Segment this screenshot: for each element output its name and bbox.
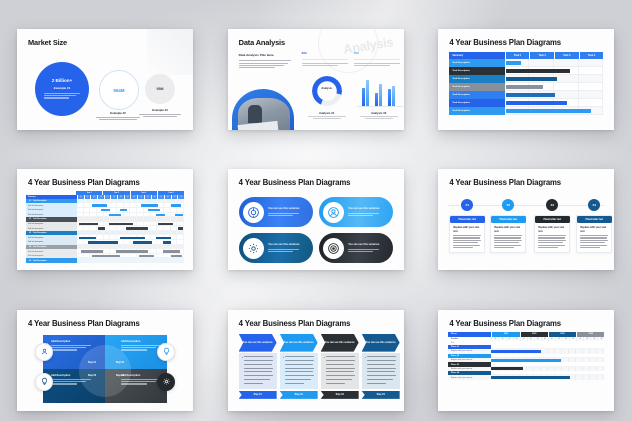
table-row[interactable]: Task Description — [449, 107, 603, 115]
group-number: 01 — [28, 200, 32, 202]
step-number-4: 04 — [588, 199, 600, 211]
row-label: Task Description — [449, 107, 504, 115]
column-bar-4: Placeholder text — [577, 216, 612, 224]
slide-cell-4: 4 Year Business Plan Diagrams Year 1 Yea… — [0, 140, 211, 280]
quadrant-heading-2: Add Description — [121, 340, 161, 343]
page-title: 4 Year Business Plan Diagrams — [449, 319, 561, 328]
group-number: 02 — [28, 218, 32, 220]
phase-track — [491, 367, 604, 371]
table-row[interactable]: Task Description — [449, 99, 603, 107]
slide-four-columns[interactable]: 4 Year Business Plan Diagrams 01 Placeho… — [438, 169, 614, 270]
analysis-tag-2: 75% — [354, 52, 400, 55]
metric-caption-3: Example #3 — [139, 108, 181, 112]
column-card-1: Placeholder text Replace with your own t… — [449, 215, 485, 253]
column-bar-1: Placeholder text — [450, 216, 485, 224]
center-circle — [79, 345, 131, 397]
column-heading-4: Replace with your own text — [577, 223, 611, 235]
target-icon — [323, 238, 344, 259]
quadrant-cell-2: Step 02 — [107, 362, 133, 364]
group-label: Task Description — [33, 246, 46, 248]
page-title: 4 Year Business Plan Diagrams — [449, 178, 561, 187]
slide-data-analysis[interactable]: Analysis Data Analysis Data Analysis Tit… — [228, 29, 404, 130]
column-card-4: Placeholder text Replace with your own t… — [576, 215, 612, 253]
row-track — [505, 75, 604, 83]
pill-heading-2: You can use this sentence — [348, 207, 379, 210]
intro-block: Data Analysis Title Here — [239, 53, 291, 70]
idea-icon[interactable] — [157, 343, 175, 361]
slide-cell-9: 4 Year Business Plan Diagrams Phase 2021… — [421, 281, 632, 421]
table-row[interactable]: Task Description — [449, 91, 603, 99]
column-heading-1: Replace with your own text — [450, 223, 484, 235]
row-label: Task Description — [449, 67, 504, 75]
quadrant-cell-1: Step 01 — [79, 362, 105, 364]
slide-cell-2: Analysis Data Analysis Data Analysis Tit… — [211, 0, 422, 140]
phase-track — [491, 349, 604, 353]
page-title: 4 Year Business Plan Diagrams — [28, 319, 140, 328]
row-track — [505, 59, 604, 67]
chevron-footer-3: Step 03 — [321, 391, 359, 399]
metric-caption-block-3: Example #3 — [139, 108, 181, 117]
page-title: 4 Year Business Plan Diagrams — [28, 178, 140, 187]
quadrant-cell-4: Step 04 — [107, 375, 133, 377]
user-icon[interactable] — [35, 343, 53, 361]
photo-thumbnail — [232, 89, 294, 130]
page-title: Market Size — [28, 38, 67, 47]
chevron-column-3[interactable]: You can use this sentence Step 03 — [321, 334, 359, 399]
group-label: Task Description — [33, 200, 46, 202]
metric-caption-2: Example #2 — [96, 111, 140, 115]
column-bar-3: Placeholder text — [535, 216, 570, 224]
column-card-3: Placeholder text Replace with your own t… — [534, 215, 570, 253]
row-track — [505, 83, 604, 91]
phase-track — [491, 358, 604, 362]
step-number-2: 02 — [502, 199, 514, 211]
slide-quadrant[interactable]: 4 Year Business Plan Diagrams Add Descri… — [17, 310, 193, 411]
pill-text-2: You can use this sentence — [344, 207, 384, 217]
row-track — [505, 91, 604, 99]
analysis-column-2: 75% — [354, 52, 400, 67]
gear-icon — [243, 238, 264, 259]
metric-body-1 — [44, 93, 80, 100]
column-bar-2: Placeholder text — [491, 216, 526, 224]
slide-cell-7: 4 Year Business Plan Diagrams Add Descri… — [0, 281, 211, 421]
donut-center-label: Analysis — [312, 87, 342, 90]
row-label: Task Description — [449, 59, 504, 67]
column-2[interactable]: 02 Placeholder text Replace with your ow… — [490, 199, 526, 253]
column-header-task1: Task 1 — [505, 52, 530, 59]
bar-chart — [360, 76, 400, 106]
group-row-footer[interactable]: 05Task Description — [26, 258, 184, 263]
quadrant-matrix: Add Description Add Description Add Desc… — [43, 335, 167, 403]
metric-circle-2[interactable]: 654M — [99, 70, 139, 110]
gantt-phase-table: Phase 2021 2022 2023 2024 Duration Q1 Q2… — [448, 332, 604, 380]
chevron-body-3 — [321, 353, 359, 389]
chevron-heading-3: You can use this sentence — [321, 334, 359, 352]
phase-task: Replace with your own text — [448, 375, 491, 379]
page-title: Data Analysis — [239, 38, 285, 47]
column-header-summary: Summary — [449, 52, 504, 59]
quadrant-cell-3: Step 03 — [79, 375, 105, 377]
intro-heading: Data Analysis Title Here — [239, 53, 291, 57]
chevron-body-4 — [362, 353, 400, 389]
group-number: 04 — [28, 246, 32, 248]
column-heading-3: Replace with your own text — [535, 223, 569, 235]
metric-value-2: 654M — [114, 88, 125, 93]
row-label: Task Description — [449, 91, 504, 99]
pill-card-1[interactable]: You can use this sentence — [239, 197, 313, 227]
column-3[interactable]: 03 Placeholder text Replace with your ow… — [534, 199, 570, 253]
pill-card-2[interactable]: You can use this sentence — [319, 197, 393, 227]
pill-card-3[interactable]: You can use this sentence — [239, 233, 313, 263]
chevron-body-1 — [239, 353, 277, 389]
column-4[interactable]: 04 Placeholder text Replace with your ow… — [576, 199, 612, 253]
group-label: Task Description — [33, 260, 46, 262]
pill-heading-4: You can use this sentence — [348, 243, 379, 246]
chevron-footer-1: Step 01 — [239, 391, 277, 399]
chevron-body-2 — [280, 353, 318, 389]
donut-chart — [312, 76, 342, 106]
pill-text-3: You can use this sentence — [264, 243, 304, 253]
slide-gantt-phases[interactable]: 4 Year Business Plan Diagrams Phase 2021… — [438, 310, 614, 411]
gantt-header-row: Summary Task 1 Task 2 Task 3 Task 4 — [449, 52, 603, 59]
phase-track — [491, 375, 604, 379]
slide-cell-3: 4 Year Business Plan Diagrams Summary Ta… — [421, 0, 632, 140]
pill-text-1: You can use this sentence — [264, 207, 304, 217]
slide-gantt-simple[interactable]: 4 Year Business Plan Diagrams Summary Ta… — [438, 29, 614, 130]
chevron-heading-4: You can use this sentence — [362, 334, 400, 352]
table-row[interactable]: Task Description — [449, 75, 603, 83]
chevron-column-4[interactable]: You can use this sentence Step 04 — [362, 334, 400, 399]
metric-value-1: 2 Billion+ — [52, 78, 73, 83]
slide-pill-cards[interactable]: 4 Year Business Plan Diagrams You can us… — [228, 169, 404, 270]
row-track — [505, 99, 604, 107]
column-header-task2: Task 2 — [529, 52, 554, 59]
column-card-2: Placeholder text Replace with your own t… — [490, 215, 526, 253]
chevron-footer-4: Step 04 — [362, 391, 400, 399]
chevron-footer-2: Step 02 — [280, 391, 318, 399]
column-header-task3: Task 3 — [554, 52, 579, 59]
slide-cell-1: Market Size 2 Billion+ Example #1 654M E… — [0, 0, 211, 140]
user-icon — [323, 202, 344, 223]
step-number-1: 01 — [461, 199, 473, 211]
slide-cell-8: 4 Year Business Plan Diagrams You can us… — [211, 281, 422, 421]
step-number-3: 03 — [546, 199, 558, 211]
metric-circle-1[interactable]: 2 Billion+ Example #1 — [35, 62, 89, 116]
analysis-caption-2: Analysis #2 — [362, 111, 396, 115]
column-header-task4: Task 4 — [579, 52, 604, 59]
group-label: Task Description — [33, 232, 46, 234]
page-title: 4 Year Business Plan Diagrams — [239, 178, 351, 187]
metric-caption-1: Example #1 — [54, 86, 71, 90]
gantt-table: Summary Task 1 Task 2 Task 3 Task 4 Task… — [449, 52, 603, 122]
row-track — [505, 107, 604, 115]
quadrant-heading-1: Add Description — [51, 340, 91, 343]
metric-caption-block-2: Example #2 — [96, 111, 140, 120]
bulb-icon[interactable] — [35, 373, 53, 391]
chevron-heading-1: You can use this sentence — [239, 334, 277, 352]
page-title: 4 Year Business Plan Diagrams — [449, 38, 561, 47]
column-heading-2: Replace with your own text — [491, 223, 525, 235]
corner-accent — [147, 29, 193, 75]
column-1[interactable]: 01 Placeholder text Replace with your ow… — [449, 199, 485, 253]
table-row[interactable]: Task Description — [449, 59, 603, 67]
slide-market-size[interactable]: Market Size 2 Billion+ Example #1 654M E… — [17, 29, 193, 130]
phase-bar-row[interactable]: Replace with your own text — [448, 375, 604, 379]
row-label: Task Description — [449, 83, 504, 91]
metric-circle-3[interactable]: 95M — [145, 74, 175, 104]
row-track — [505, 67, 604, 75]
metric-value-3: 95M — [157, 87, 164, 91]
slide-chevrons[interactable]: 4 Year Business Plan Diagrams You can us… — [228, 310, 404, 411]
chevron-heading-2: You can use this sentence — [280, 334, 318, 352]
analysis-tag-1: 80% — [302, 52, 348, 55]
chevron-column-1[interactable]: You can use this sentence Step 01 — [239, 334, 277, 399]
gear-icon[interactable] — [157, 373, 175, 391]
slide-cell-6: 4 Year Business Plan Diagrams 01 Placeho… — [421, 140, 632, 280]
analysis-column-1: 80% — [302, 52, 348, 67]
table-row[interactable]: Task Description — [449, 67, 603, 75]
chevron-column-2[interactable]: You can use this sentence Step 02 — [280, 334, 318, 399]
dashboard-icon — [243, 202, 264, 223]
group-number: 03 — [28, 232, 32, 234]
analysis-caption-1: Analysis #1 — [312, 111, 342, 115]
pill-card-4[interactable]: You can use this sentence — [319, 233, 393, 263]
pill-text-4: You can use this sentence — [344, 243, 384, 253]
slide-cell-5: 4 Year Business Plan Diagrams You can us… — [211, 140, 422, 280]
table-row[interactable]: Task Description — [449, 83, 603, 91]
slide-gantt-dense[interactable]: 4 Year Business Plan Diagrams Year 1 Yea… — [17, 169, 193, 270]
group-label: Task Description — [33, 218, 46, 220]
page-title: 4 Year Business Plan Diagrams — [239, 319, 351, 328]
gantt-dense-table: Year 1 Year 2 Year 3 Year 4 Summary Q1 Q… — [26, 191, 184, 263]
pill-heading-3: You can use this sentence — [268, 243, 299, 246]
slide-grid: Market Size 2 Billion+ Example #1 654M E… — [0, 0, 632, 421]
row-label: Task Description — [449, 75, 504, 83]
pill-heading-1: You can use this sentence — [268, 207, 299, 210]
row-label: Task Description — [449, 99, 504, 107]
